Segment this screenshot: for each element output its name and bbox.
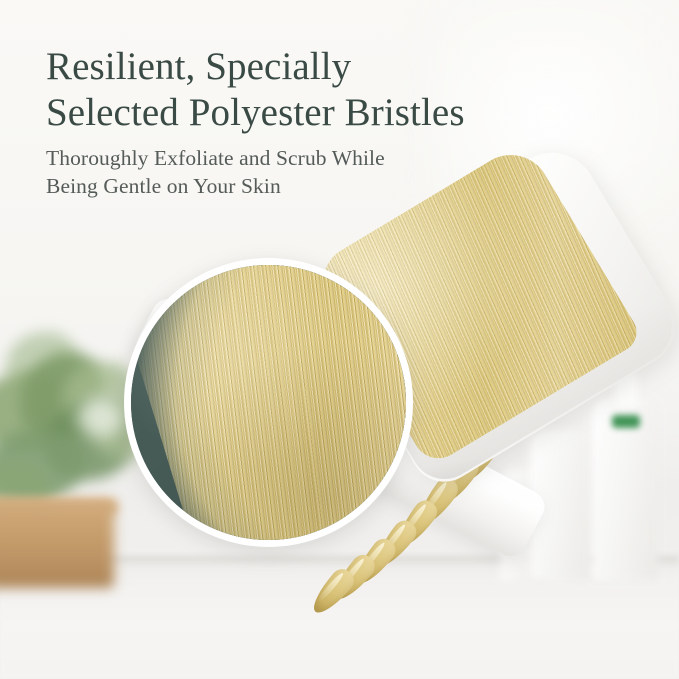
product-marketing-image: Resilient, Specially Selected Polyester … [0,0,679,679]
magnifier-inset [131,265,406,540]
subheadline: Thoroughly Exfoliate and Scrub While Bei… [46,144,626,200]
marketing-copy: Resilient, Specially Selected Polyester … [46,44,626,200]
headline: Resilient, Specially Selected Polyester … [46,44,626,136]
inset-shading [131,265,406,540]
